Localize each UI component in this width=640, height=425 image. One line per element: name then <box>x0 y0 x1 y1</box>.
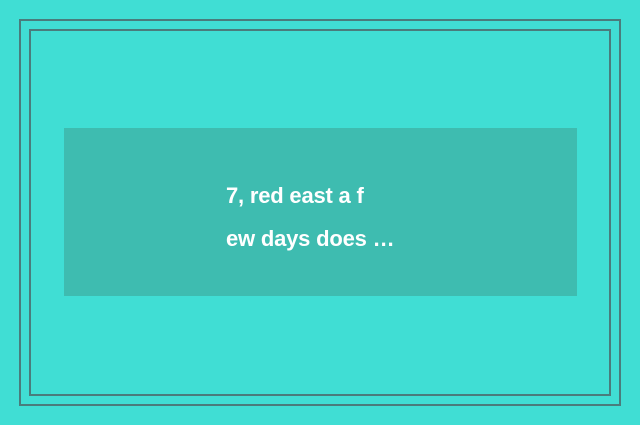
content-panel: 7, red east a f ew days does … <box>64 128 577 296</box>
caption-line-1: 7, red east a f <box>226 174 556 217</box>
poster-canvas: 7, red east a f ew days does … <box>0 0 640 425</box>
caption-line-2: ew days does … <box>226 217 556 260</box>
caption-block: 7, red east a f ew days does … <box>226 174 556 260</box>
